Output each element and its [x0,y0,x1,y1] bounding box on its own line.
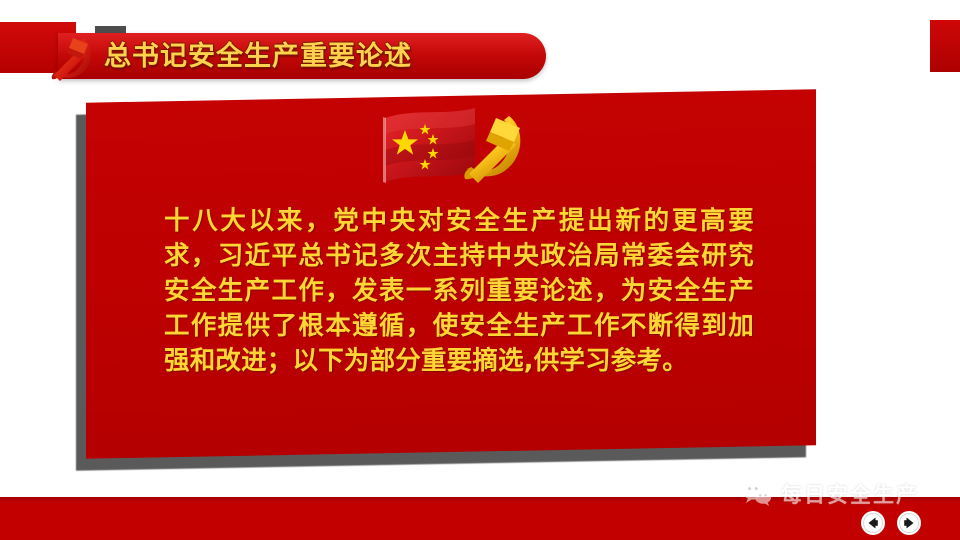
chinese-flag-with-party-emblem-icon [371,102,551,194]
content-panel: 十八大以来，党中央对安全生产提出新的更高要求，习近平总书记多次主持中央政治局常委… [86,89,816,458]
next-slide-button[interactable] [897,511,921,535]
wechat-icon [742,481,772,507]
presentation-slide: 总书记安全生产重要论述 [0,0,960,540]
watermark-label: 每日安全生产 [781,479,919,509]
body-paragraph: 十八大以来，党中央对安全生产提出新的更高要求，习近平总书记多次主持中央政治局常委… [164,204,754,379]
hammer-and-sickle-icon [40,28,102,90]
content-panel-wrapper: 十八大以来，党中央对安全生产提出新的更高要求，习近平总书记多次主持中央政治局常委… [86,96,816,452]
previous-slide-button[interactable] [861,511,885,535]
decorative-red-block-right [930,20,960,72]
page-title: 总书记安全生产重要论述 [104,36,412,78]
slide-navigation [861,511,921,535]
watermark: 每日安全生产 [742,478,919,510]
